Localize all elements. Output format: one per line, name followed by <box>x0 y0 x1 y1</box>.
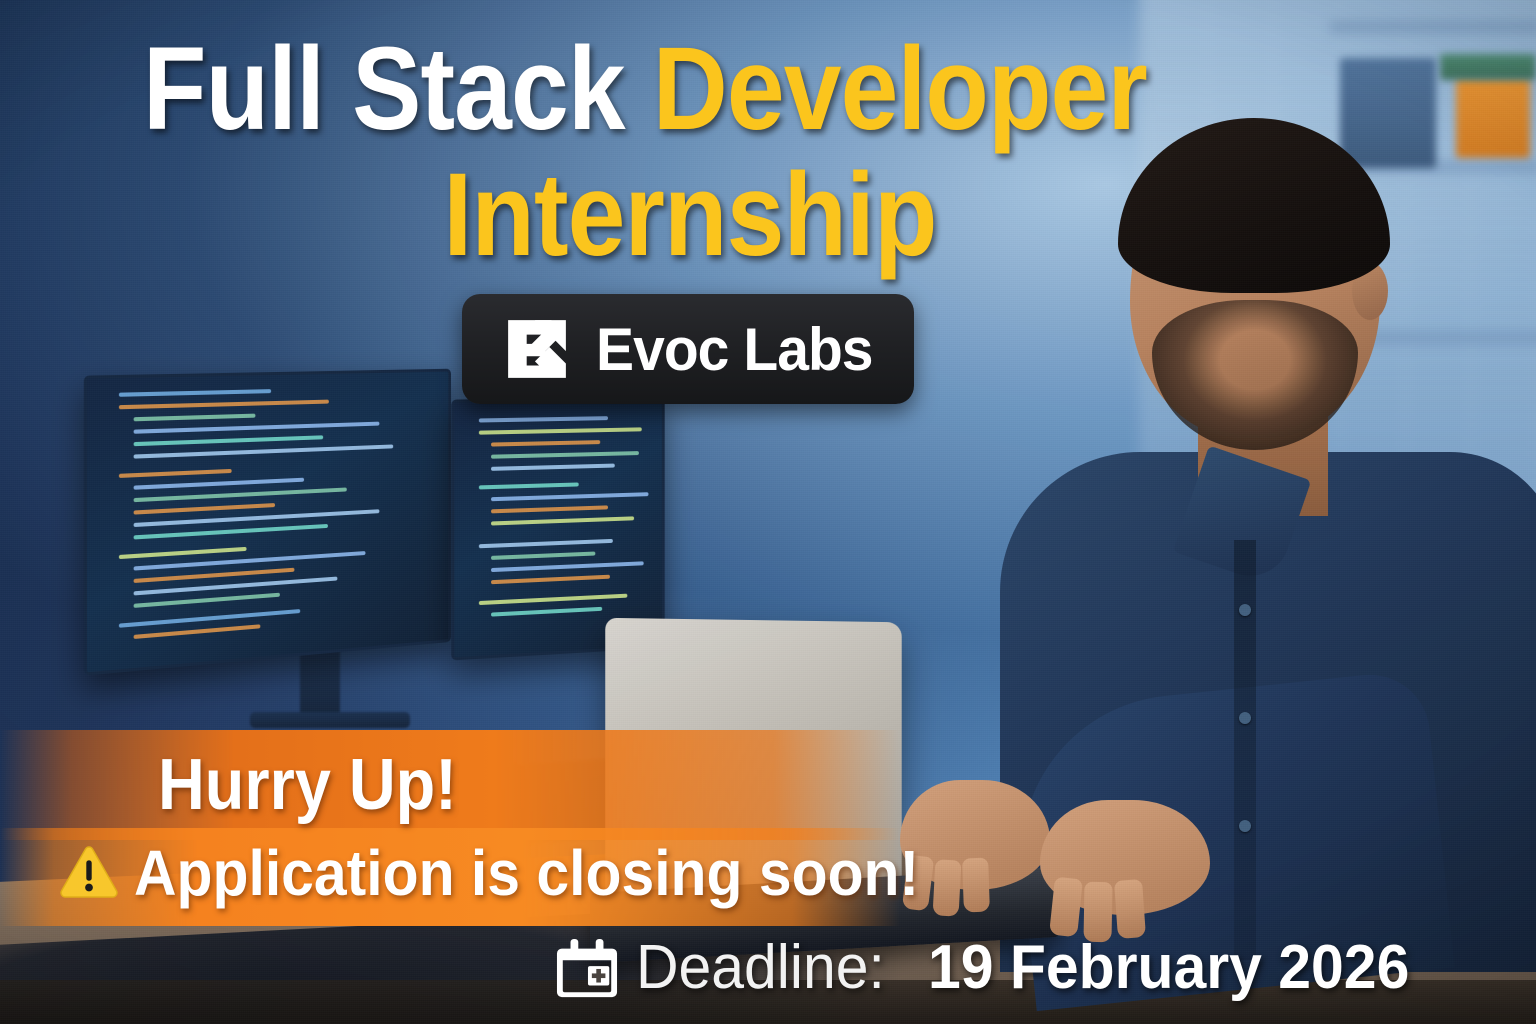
monitor-stand <box>300 648 340 718</box>
application-closing-row: Application is closing soon! <box>58 836 987 910</box>
hurry-up-text: Hurry Up! <box>158 744 457 826</box>
promo-poster: Full Stack Developer Internship Evoc Lab… <box>0 0 1536 1024</box>
deadline-label: Deadline: <box>636 932 885 1003</box>
page-title: Full Stack Developer <box>77 30 1212 148</box>
headline-part-developer: Developer <box>653 23 1147 155</box>
monitor-left <box>84 369 451 676</box>
calendar-plus-icon <box>556 937 618 999</box>
shirt-placket <box>1234 540 1256 960</box>
deadline-row: Deadline: 19 February 2026 <box>556 932 1435 1003</box>
book-blue <box>1340 58 1436 168</box>
warning-triangle-icon <box>58 844 120 902</box>
shelf-board <box>1330 20 1536 34</box>
deadline-date: 19 February 2026 <box>928 932 1409 1003</box>
headline-line-internship: Internship <box>83 156 1297 274</box>
brand-logo-badge[interactable]: Evoc Labs <box>462 294 914 404</box>
person-finger <box>1114 879 1146 939</box>
headline-part-full-stack: Full Stack <box>143 23 653 155</box>
book-orange <box>1456 78 1530 158</box>
shirt-button <box>1239 712 1251 724</box>
application-closing-text: Application is closing soon! <box>134 836 919 910</box>
shirt-button <box>1239 820 1251 832</box>
monitor-stand <box>250 712 410 728</box>
evoc-arrow-mark-icon <box>504 316 570 382</box>
brand-name: Evoc Labs <box>596 315 873 384</box>
shirt-button <box>1239 604 1251 616</box>
book-teal <box>1440 54 1536 80</box>
